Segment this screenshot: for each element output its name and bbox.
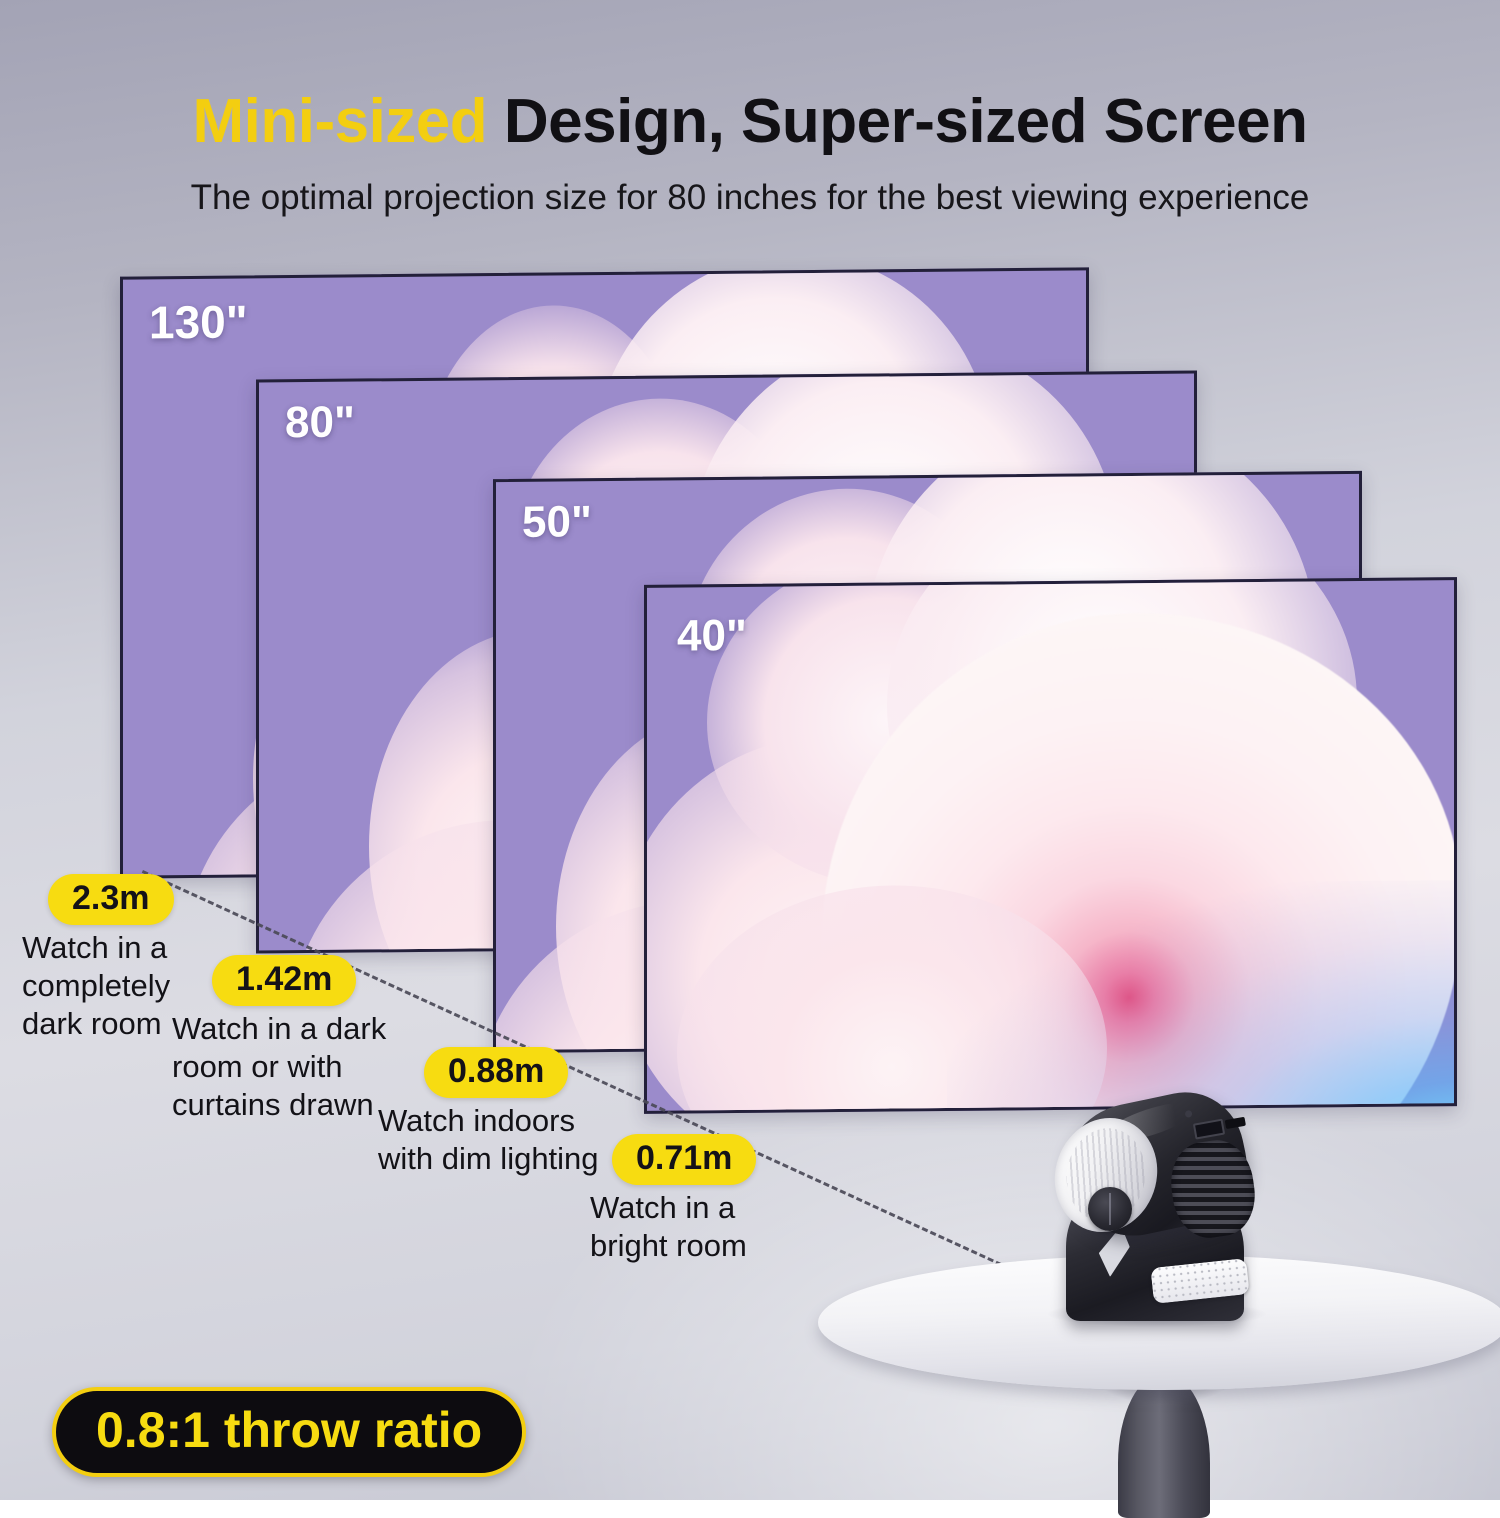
speaker-grille-icon bbox=[1150, 1258, 1249, 1304]
infographic-canvas: Mini-sized Design, Super-sized Screen Th… bbox=[0, 0, 1500, 1500]
screen-size-label-40: 40" bbox=[677, 611, 747, 662]
distance-caption-1-42m: Watch in a dark room or with curtains dr… bbox=[172, 1010, 386, 1123]
throw-ratio-badge: 0.8:1 throw ratio bbox=[52, 1387, 526, 1477]
page-title: Mini-sized Design, Super-sized Screen bbox=[0, 86, 1500, 157]
page-subtitle: The optimal projection size for 80 inche… bbox=[0, 178, 1500, 218]
distance-badge-1-42m: 1.42m bbox=[212, 955, 356, 1006]
distance-caption-2-3m: Watch in a completely dark room bbox=[22, 929, 170, 1042]
screen-size-label-50: 50" bbox=[522, 497, 592, 548]
usb-port-icon bbox=[1193, 1119, 1225, 1140]
hdmi-port-icon bbox=[1225, 1117, 1246, 1129]
screen-size-label-130: 130" bbox=[149, 294, 248, 349]
screen-artwork-40 bbox=[647, 580, 1454, 1111]
lens-hub-icon bbox=[1088, 1187, 1132, 1231]
distance-badge-0-71m: 0.71m bbox=[612, 1134, 756, 1185]
distance-caption-0-88m: Watch indoors with dim lighting bbox=[378, 1102, 599, 1178]
projector-device bbox=[1040, 1095, 1280, 1325]
headline-highlight: Mini-sized bbox=[192, 87, 487, 156]
table-pedestal bbox=[1118, 1373, 1210, 1518]
distance-caption-0-71m: Watch in a bright room bbox=[590, 1189, 747, 1265]
projection-screen-40: 40" bbox=[644, 577, 1457, 1114]
screen-size-label-80: 80" bbox=[285, 398, 355, 449]
distance-badge-0-88m: 0.88m bbox=[424, 1047, 568, 1098]
headline-rest: Design, Super-sized Screen bbox=[487, 87, 1307, 156]
distance-badge-2-3m: 2.3m bbox=[48, 874, 174, 925]
